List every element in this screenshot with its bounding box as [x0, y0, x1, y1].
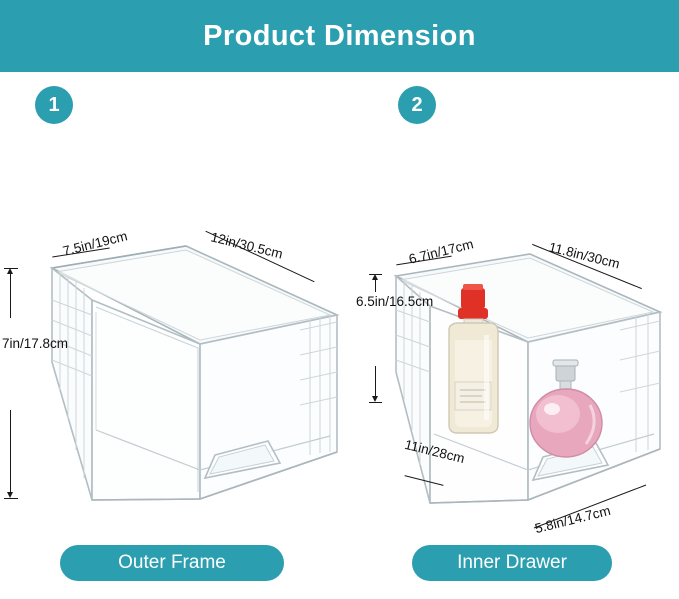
caption-outer-frame: Outer Frame [60, 545, 284, 581]
guide-line [10, 272, 11, 318]
dim-inner-height-wrapper: 6.5in/16.5cm [356, 290, 394, 364]
guide-line [4, 268, 18, 269]
guide-line [4, 498, 18, 499]
step-badge-2: 2 [398, 86, 436, 124]
dim-outer-height-left: 7in/17.8cm [2, 336, 38, 351]
dim-outer-height-wrapper: 7in/17.8cm [2, 330, 38, 400]
inner-drawer-drawing [396, 254, 660, 503]
guide-line [369, 274, 382, 275]
outer-frame-drawing [52, 246, 337, 500]
guide-line [375, 278, 376, 292]
guide-line [375, 366, 376, 396]
guide-line [369, 402, 382, 403]
caption-inner-drawer: Inner Drawer [412, 545, 612, 581]
guide-line [10, 410, 11, 492]
product-illustrations [0, 0, 679, 599]
dim-inner-height-left: 6.5in/16.5cm [356, 294, 394, 309]
